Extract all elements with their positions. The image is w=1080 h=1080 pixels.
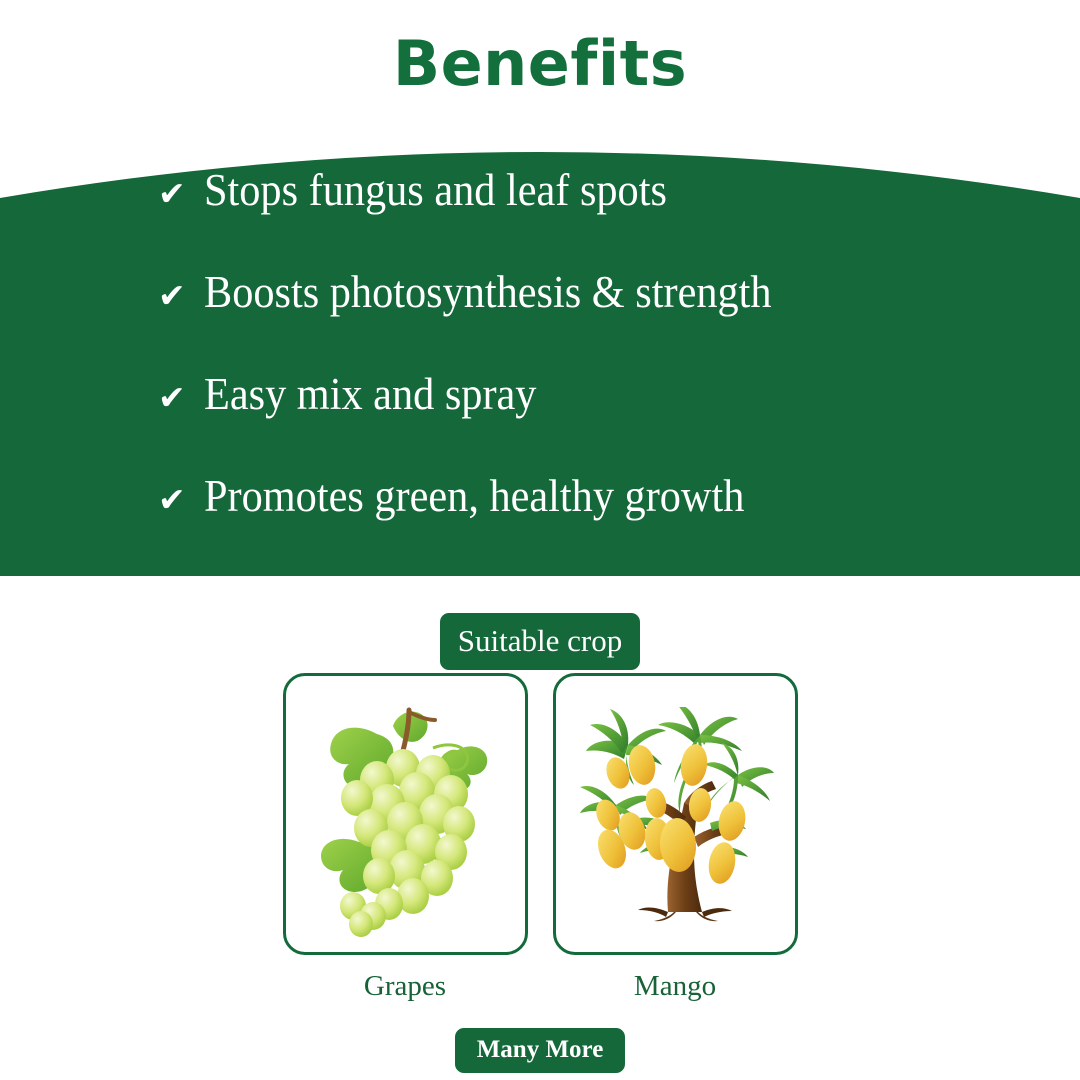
suitable-crop-section: Suitable crop bbox=[0, 576, 1080, 1080]
check-icon: ✔ bbox=[158, 279, 204, 312]
benefit-item: ✔ Boosts photosynthesis & strength bbox=[158, 270, 1080, 372]
benefit-item-label: Boosts photosynthesis & strength bbox=[204, 270, 772, 315]
suitable-crop-badge-wrap: Suitable crop bbox=[0, 613, 1080, 670]
crop-card-list: Grapes bbox=[0, 673, 1080, 1001]
benefit-item: ✔ Promotes green, healthy growth bbox=[158, 474, 1080, 576]
check-icon: ✔ bbox=[158, 483, 204, 516]
check-icon: ✔ bbox=[158, 381, 204, 414]
suitable-crop-badge: Suitable crop bbox=[440, 613, 640, 670]
crop-card-mango[interactable]: Mango bbox=[553, 673, 798, 1001]
many-more-badge[interactable]: Many More bbox=[455, 1028, 626, 1073]
mango-tree-icon bbox=[570, 707, 780, 922]
page-title: Benefits bbox=[393, 33, 687, 95]
many-more-badge-wrap: Many More bbox=[0, 1028, 1080, 1073]
benefit-item: ✔ Easy mix and spray bbox=[158, 372, 1080, 474]
crop-card-grapes[interactable]: Grapes bbox=[283, 673, 528, 1001]
crop-card-label: Grapes bbox=[283, 972, 528, 1001]
benefit-item-label: Promotes green, healthy growth bbox=[204, 474, 744, 519]
crop-card-label: Mango bbox=[553, 972, 798, 1001]
grapes-icon bbox=[305, 692, 505, 937]
page-title-bar: Benefits bbox=[0, 0, 1080, 128]
benefit-item-label: Stops fungus and leaf spots bbox=[204, 168, 667, 213]
check-icon: ✔ bbox=[158, 177, 204, 210]
crop-card-image-frame[interactable] bbox=[283, 673, 528, 955]
crop-card-image-frame[interactable] bbox=[553, 673, 798, 955]
benefit-item-label: Easy mix and spray bbox=[204, 372, 536, 417]
benefit-item: ✔ Stops fungus and leaf spots bbox=[158, 168, 1080, 270]
benefits-list: ✔ Stops fungus and leaf spots ✔ Boosts p… bbox=[0, 168, 1080, 576]
